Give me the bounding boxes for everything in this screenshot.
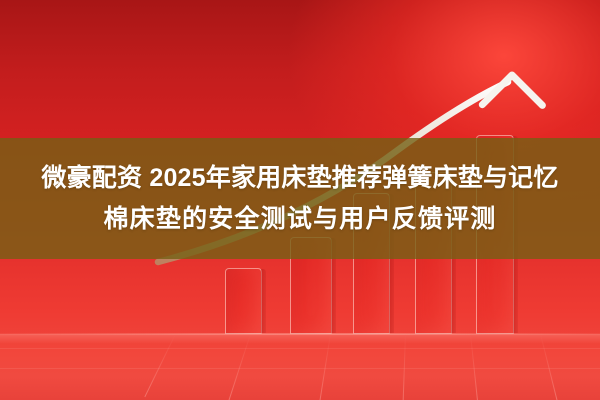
- banner-image: 微豪配资 2025年家用床垫推荐弹簧床垫与记忆 棉床垫的安全测试与用户反馈评测: [0, 0, 600, 400]
- chart-bar-side: [261, 269, 266, 333]
- floor-plane: [0, 334, 600, 400]
- title-line-2: 棉床垫的安全测试与用户反馈评测: [14, 199, 586, 240]
- floor-glow: [0, 334, 600, 344]
- title-block: 微豪配资 2025年家用床垫推荐弹簧床垫与记忆 棉床垫的安全测试与用户反馈评测: [0, 158, 600, 240]
- floor-gridline-horizontal: [0, 348, 600, 349]
- chart-bar: [225, 268, 262, 334]
- floor-gridline-horizontal: [0, 368, 600, 369]
- title-band: 微豪配资 2025年家用床垫推荐弹簧床垫与记忆 棉床垫的安全测试与用户反馈评测: [0, 138, 600, 259]
- title-line-1: 微豪配资 2025年家用床垫推荐弹簧床垫与记忆: [14, 158, 586, 199]
